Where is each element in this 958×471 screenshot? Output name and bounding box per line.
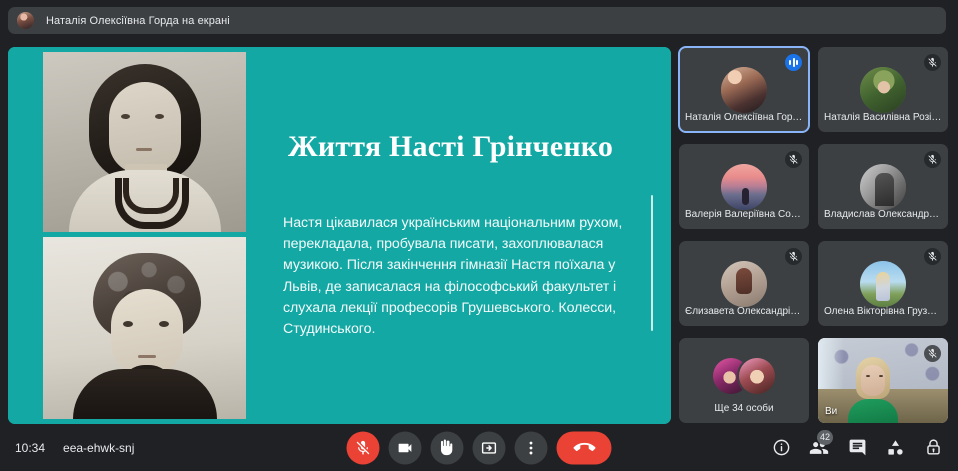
meeting-details-icon[interactable] — [770, 437, 792, 459]
more-participants-tile[interactable]: Ще 34 особи — [679, 338, 809, 423]
slide-title: Життя Насті Грінченко — [288, 130, 671, 164]
right-controls: 42 — [770, 437, 944, 459]
mic-off-icon — [785, 151, 802, 168]
portrait-photo-bottom — [43, 237, 246, 419]
avatar — [721, 261, 767, 307]
avatar — [860, 164, 906, 210]
meeting-meta: 10:34 eea-ehwk-snj — [15, 441, 134, 455]
camera-button[interactable] — [389, 431, 422, 464]
mic-off-icon — [924, 345, 941, 362]
participant-name: Наталія Олексіївна Горда — [679, 112, 809, 123]
raise-hand-button[interactable] — [431, 431, 464, 464]
slide-scroll-indicator — [651, 195, 653, 331]
more-participants-label: Ще 34 особи — [679, 403, 809, 414]
more-options-button[interactable] — [515, 431, 548, 464]
participant-filmstrip: Наталія Олексіївна Горда Наталія Василів… — [679, 47, 950, 424]
avatar — [721, 164, 767, 210]
overflow-avatar-stack — [711, 356, 777, 396]
host-controls-icon[interactable] — [922, 437, 944, 459]
slide-photo-group — [43, 52, 246, 419]
self-view-label: Ви — [825, 406, 837, 417]
participant-tile[interactable]: Владислав Олександро… — [818, 144, 948, 229]
meeting-window: Наталія Олексіївна Горда на екрані — [0, 0, 958, 471]
mic-off-icon — [924, 151, 941, 168]
avatar — [860, 261, 906, 307]
avatar — [721, 67, 767, 113]
self-view-tile[interactable]: Ви — [818, 338, 948, 423]
avatar — [737, 356, 777, 396]
participants-icon[interactable]: 42 — [808, 437, 830, 459]
mic-off-icon — [924, 54, 941, 71]
bottom-bar: 10:34 eea-ehwk-snj — [0, 424, 958, 471]
participant-name: Валерія Валеріївна Сок… — [679, 209, 809, 220]
participant-name: Єлизавета Олександрів… — [679, 306, 809, 317]
mic-off-icon — [924, 248, 941, 265]
participant-tile[interactable]: Валерія Валеріївна Сок… — [679, 144, 809, 229]
shared-screen-stage[interactable]: Життя Насті Грінченко Настя цікавилася у… — [8, 47, 671, 424]
participant-tile[interactable]: Наталія Олексіївна Горда — [679, 47, 809, 132]
slide-text-area: Життя Насті Грінченко Настя цікавилася у… — [262, 47, 671, 424]
participants-count-badge: 42 — [817, 430, 833, 445]
microphone-off-button[interactable] — [347, 431, 380, 464]
slide-paragraph: Настя цікавилася українським національни… — [283, 213, 648, 340]
present-screen-button[interactable] — [473, 431, 506, 464]
presenter-label: Наталія Олексіївна Горда на екрані — [46, 15, 230, 27]
participant-tile[interactable]: Єлизавета Олександрів… — [679, 241, 809, 326]
participant-name: Олена Вікторівна Грузд… — [818, 306, 948, 317]
presenter-avatar — [17, 12, 34, 29]
participant-name: Наталія Василівна Розін… — [818, 112, 948, 123]
presentation-slide: Життя Насті Грінченко Настя цікавилася у… — [8, 47, 671, 424]
clock: 10:34 — [15, 441, 45, 455]
chat-icon[interactable] — [846, 437, 868, 459]
presenter-banner[interactable]: Наталія Олексіївна Горда на екрані — [8, 7, 946, 34]
activities-icon[interactable] — [884, 437, 906, 459]
leave-call-button[interactable] — [557, 431, 612, 464]
speaking-indicator-icon — [785, 54, 802, 71]
avatar — [860, 67, 906, 113]
participant-name: Владислав Олександро… — [818, 209, 948, 220]
top-bar: Наталія Олексіївна Горда на екрані — [0, 0, 958, 41]
meeting-code[interactable]: eea-ehwk-snj — [63, 441, 134, 455]
mic-off-icon — [785, 248, 802, 265]
participant-tile[interactable]: Наталія Василівна Розін… — [818, 47, 948, 132]
call-controls — [347, 431, 612, 464]
participant-tile[interactable]: Олена Вікторівна Грузд… — [818, 241, 948, 326]
portrait-photo-top — [43, 52, 246, 232]
